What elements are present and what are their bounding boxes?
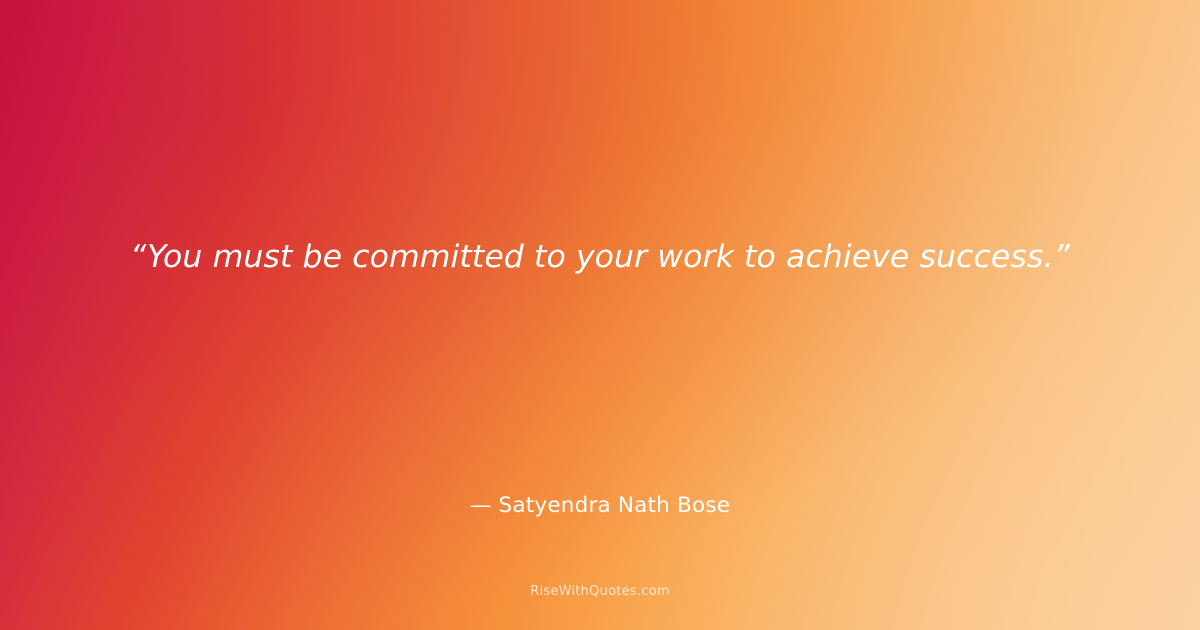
quote-attribution: — Satyendra Nath Bose: [0, 493, 1200, 518]
quote-text: “You must be committed to your work to a…: [0, 236, 1200, 279]
quote-card: “You must be committed to your work to a…: [0, 0, 1200, 630]
footer-credit: RiseWithQuotes.com: [0, 584, 1200, 599]
quote-content: “You must be committed to your work to a…: [0, 0, 1200, 630]
